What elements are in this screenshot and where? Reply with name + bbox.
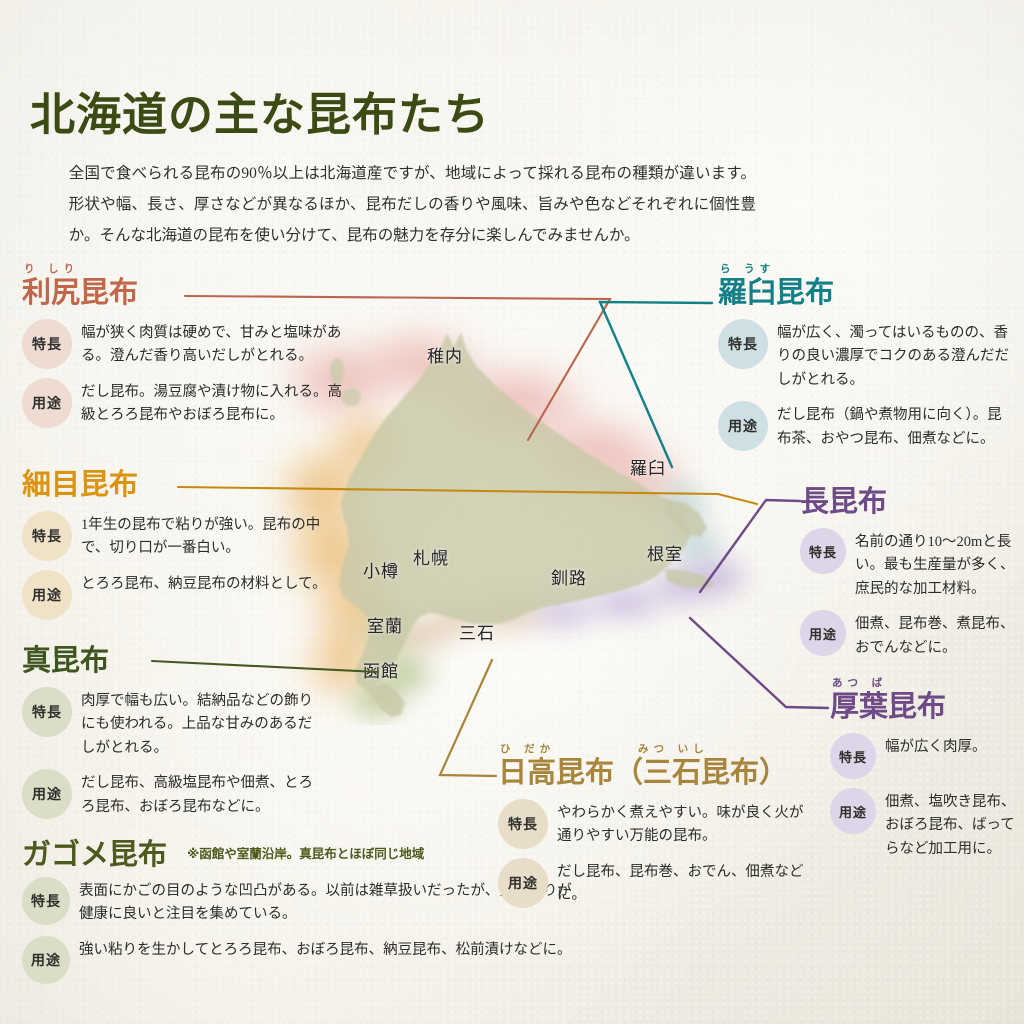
kelp-name-ma: 真昆布 <box>22 643 109 677</box>
kelp-row-feature: 特長 1年生の昆布で粘りが強い。昆布の中で、切り口が一番白い。 <box>22 511 342 561</box>
kelp-rows-naga: 特長 名前の通り10〜20mと長い。最も生産量が多く、庶民的な加工材料。 用途 … <box>800 528 1024 660</box>
kelp-name-gagome: ガゴメ昆布 <box>22 837 167 871</box>
kelp-row-use: 用途 だし昆布、昆布巻、おでん、佃煮などに。 <box>498 858 808 908</box>
kelp-note-gagome: ※函館や室蘭沿岸。真昆布とほぼ同じ地域 <box>187 846 424 861</box>
badge-feature: 特長 <box>830 733 876 779</box>
kelp-rows-atsuba: 特長 幅が広く肉厚。 用途 佃煮、塩吹き昆布、おぼろ昆布、ばってらなど加工用に。 <box>830 733 1024 861</box>
city-label-rausu: 羅臼 <box>630 454 666 479</box>
badge-use: 用途 <box>800 610 846 656</box>
kelp-row-feature: 特長 肉厚で幅も広い。結納品などの飾りにも使われる。上品な甘みのあるだしがとれる… <box>22 687 322 760</box>
badge-feature: 特長 <box>22 511 72 561</box>
kelp-rows-rishiri: 特長 幅が狭く肉質は硬めで、甘みと塩味がある。澄んだ香り高いだしがとれる。 用途… <box>22 319 352 428</box>
badge-feature: 特長 <box>800 528 846 574</box>
kelp-title-rausu: ら うす 羅臼昆布 <box>718 278 1014 307</box>
intro-text: 全国で食べられる昆布の90％以上は北海道産ですが、地域によって採れる昆布の種類が… <box>44 158 756 251</box>
feature-text: 幅が広く肉厚。 <box>876 733 1024 759</box>
badge-feature: 特長 <box>498 799 548 849</box>
badge-use: 用途 <box>22 936 70 984</box>
kelp-row-use: 用途 佃煮、昆布巻、煮昆布、おでんなどに。 <box>800 610 1024 660</box>
city-label-kushiro: 釧路 <box>551 564 587 589</box>
kelp-block-rishiri: り しり 利尻昆布 特長 幅が狭く肉質は硬めで、甘みと塩味がある。澄んだ香り高い… <box>22 278 352 437</box>
kelp-title-hidaka: ひ だか みつ いし 日高昆布（三石昆布） <box>498 758 808 787</box>
feature-text: 幅が広く、濁ってはいるものの、香りの良い濃厚でコクのある澄んだだしがとれる。 <box>768 319 1014 392</box>
use-text: だし昆布（鍋や煮物用に向く）。昆布茶、おやつ昆布、佃煮などに。 <box>768 401 1014 451</box>
kelp-row-feature: 特長 幅が広く肉厚。 <box>830 733 1024 779</box>
feature-text: 肉厚で幅も広い。結納品などの飾りにも使われる。上品な甘みのあるだしがとれる。 <box>72 687 322 760</box>
badge-use: 用途 <box>22 378 72 428</box>
intro-paragraph: 全国で食べられる昆布の90％以上は北海道産ですが、地域によって採れる昆布の種類が… <box>44 158 756 251</box>
kelp-title-naga: 長昆布 <box>800 487 1024 516</box>
city-label-wakkanai: 稚内 <box>427 342 463 367</box>
city-label-sapporo: 札幌 <box>413 544 449 569</box>
city-label-otaru: 小樽 <box>363 557 399 582</box>
ruby-hidaka: ひ だか <box>500 744 555 755</box>
kelp-name-hidaka: 日高昆布（三石昆布） <box>498 755 788 789</box>
kelp-title-rishiri: り しり 利尻昆布 <box>22 278 352 307</box>
badge-use: 用途 <box>498 858 548 908</box>
kelp-row-use: 用途 だし昆布（鍋や煮物用に向く）。昆布茶、おやつ昆布、佃煮などに。 <box>718 401 1014 451</box>
kelp-name-naga: 長昆布 <box>800 484 887 518</box>
use-text: とろろ昆布、納豆昆布の材料として。 <box>72 570 342 596</box>
kelp-row-feature: 特長 名前の通り10〜20mと長い。最も生産量が多く、庶民的な加工材料。 <box>800 528 1024 601</box>
ruby-rishiri: り しり <box>24 264 79 275</box>
kelp-block-hidaka: ひ だか みつ いし 日高昆布（三石昆布） 特長 やわらかく煮えやすい。味が良く… <box>498 758 808 917</box>
badge-feature: 特長 <box>22 877 70 925</box>
ruby-mitsuishi: みつ いし <box>638 744 709 755</box>
feature-text: やわらかく煮えやすい。味が良く火が通りやすい万能の昆布。 <box>548 799 808 849</box>
kelp-row-use: 用途 だし昆布、高級塩昆布や佃煮、とろろ昆布、おぼろ昆布などに。 <box>22 769 322 819</box>
kelp-name-hosome: 細目昆布 <box>22 467 138 501</box>
infographic-canvas: 北海道の主な昆布たち 全国で食べられる昆布の90％以上は北海道産ですが、地域によ… <box>0 0 1024 1024</box>
use-text: だし昆布、昆布巻、おでん、佃煮などに。 <box>548 858 808 908</box>
badge-use: 用途 <box>22 570 72 620</box>
kelp-rows-hosome: 特長 1年生の昆布で粘りが強い。昆布の中で、切り口が一番白い。 用途 とろろ昆布… <box>22 511 342 620</box>
kelp-rows-hidaka: 特長 やわらかく煮えやすい。味が良く火が通りやすい万能の昆布。 用途 だし昆布、… <box>498 799 808 908</box>
badge-use: 用途 <box>718 401 768 451</box>
city-label-mitsuishi: 三石 <box>459 619 495 644</box>
kelp-block-hosome: 細目昆布 特長 1年生の昆布で粘りが強い。昆布の中で、切り口が一番白い。 用途 … <box>22 470 342 629</box>
use-text: 佃煮、塩吹き昆布、おぼろ昆布、ばってらなど加工用に。 <box>876 788 1024 861</box>
badge-feature: 特長 <box>22 319 72 369</box>
kelp-row-use: 用途 強い粘りを生かしてとろろ昆布、おぼろ昆布、納豆昆布、松前漬けなどに。 <box>22 936 582 984</box>
kelp-title-ma: 真昆布 <box>22 646 322 675</box>
kelp-name-rausu: 羅臼昆布 <box>718 275 834 309</box>
kelp-rows-rausu: 特長 幅が広く、濁ってはいるものの、香りの良い濃厚でコクのある澄んだだしがとれる… <box>718 319 1014 451</box>
kelp-row-use: 用途 だし昆布。湯豆腐や漬け物に入れる。高級とろろ昆布やおぼろ昆布に。 <box>22 378 352 428</box>
kelp-title-atsuba: あつ ば 厚葉昆布 <box>830 692 1024 721</box>
badge-feature: 特長 <box>718 319 768 369</box>
feature-text: 名前の通り10〜20mと長い。最も生産量が多く、庶民的な加工材料。 <box>846 528 1024 601</box>
kelp-rows-ma: 特長 肉厚で幅も広い。結納品などの飾りにも使われる。上品な甘みのあるだしがとれる… <box>22 687 322 819</box>
kelp-row-use: 用途 佃煮、塩吹き昆布、おぼろ昆布、ばってらなど加工用に。 <box>830 788 1024 861</box>
kelp-row-feature: 特長 幅が広く、濁ってはいるものの、香りの良い濃厚でコクのある澄んだだしがとれる… <box>718 319 1014 392</box>
kelp-name-atsuba: 厚葉昆布 <box>830 689 946 723</box>
kelp-block-atsuba: あつ ば 厚葉昆布 特長 幅が広く肉厚。 用途 佃煮、塩吹き昆布、おぼろ昆布、ば… <box>830 692 1024 870</box>
city-label-nemuro: 根室 <box>647 540 683 565</box>
ruby-atsuba: あつ ば <box>832 678 887 689</box>
use-text: だし昆布。湯豆腐や漬け物に入れる。高級とろろ昆布やおぼろ昆布に。 <box>72 378 352 428</box>
kelp-row-feature: 特長 やわらかく煮えやすい。味が良く火が通りやすい万能の昆布。 <box>498 799 808 849</box>
feature-text: 1年生の昆布で粘りが強い。昆布の中で、切り口が一番白い。 <box>72 511 342 561</box>
kelp-row-feature: 特長 幅が狭く肉質は硬めで、甘みと塩味がある。澄んだ香り高いだしがとれる。 <box>22 319 352 369</box>
use-text: 強い粘りを生かしてとろろ昆布、おぼろ昆布、納豆昆布、松前漬けなどに。 <box>70 936 582 962</box>
ruby-rausu: ら うす <box>720 264 775 275</box>
kelp-row-use: 用途 とろろ昆布、納豆昆布の材料として。 <box>22 570 342 620</box>
kelp-name-rishiri: 利尻昆布 <box>22 275 138 309</box>
city-label-hakodate: 函館 <box>363 657 399 682</box>
use-text: 佃煮、昆布巻、煮昆布、おでんなどに。 <box>846 610 1024 660</box>
kelp-block-naga: 長昆布 特長 名前の通り10〜20mと長い。最も生産量が多く、庶民的な加工材料。… <box>800 487 1024 669</box>
kelp-block-ma: 真昆布 特長 肉厚で幅も広い。結納品などの飾りにも使われる。上品な甘みのあるだし… <box>22 646 322 828</box>
kelp-block-rausu: ら うす 羅臼昆布 特長 幅が広く、濁ってはいるものの、香りの良い濃厚でコクのあ… <box>718 278 1014 460</box>
badge-feature: 特長 <box>22 687 72 737</box>
badge-use: 用途 <box>22 769 72 819</box>
feature-text: 幅が狭く肉質は硬めで、甘みと塩味がある。澄んだ香り高いだしがとれる。 <box>72 319 352 369</box>
kelp-title-hosome: 細目昆布 <box>22 470 342 499</box>
use-text: だし昆布、高級塩昆布や佃煮、とろろ昆布、おぼろ昆布などに。 <box>72 769 322 819</box>
city-label-muroran: 室蘭 <box>367 612 403 637</box>
badge-use: 用途 <box>830 788 876 834</box>
page-title: 北海道の主な昆布たち <box>30 78 490 143</box>
